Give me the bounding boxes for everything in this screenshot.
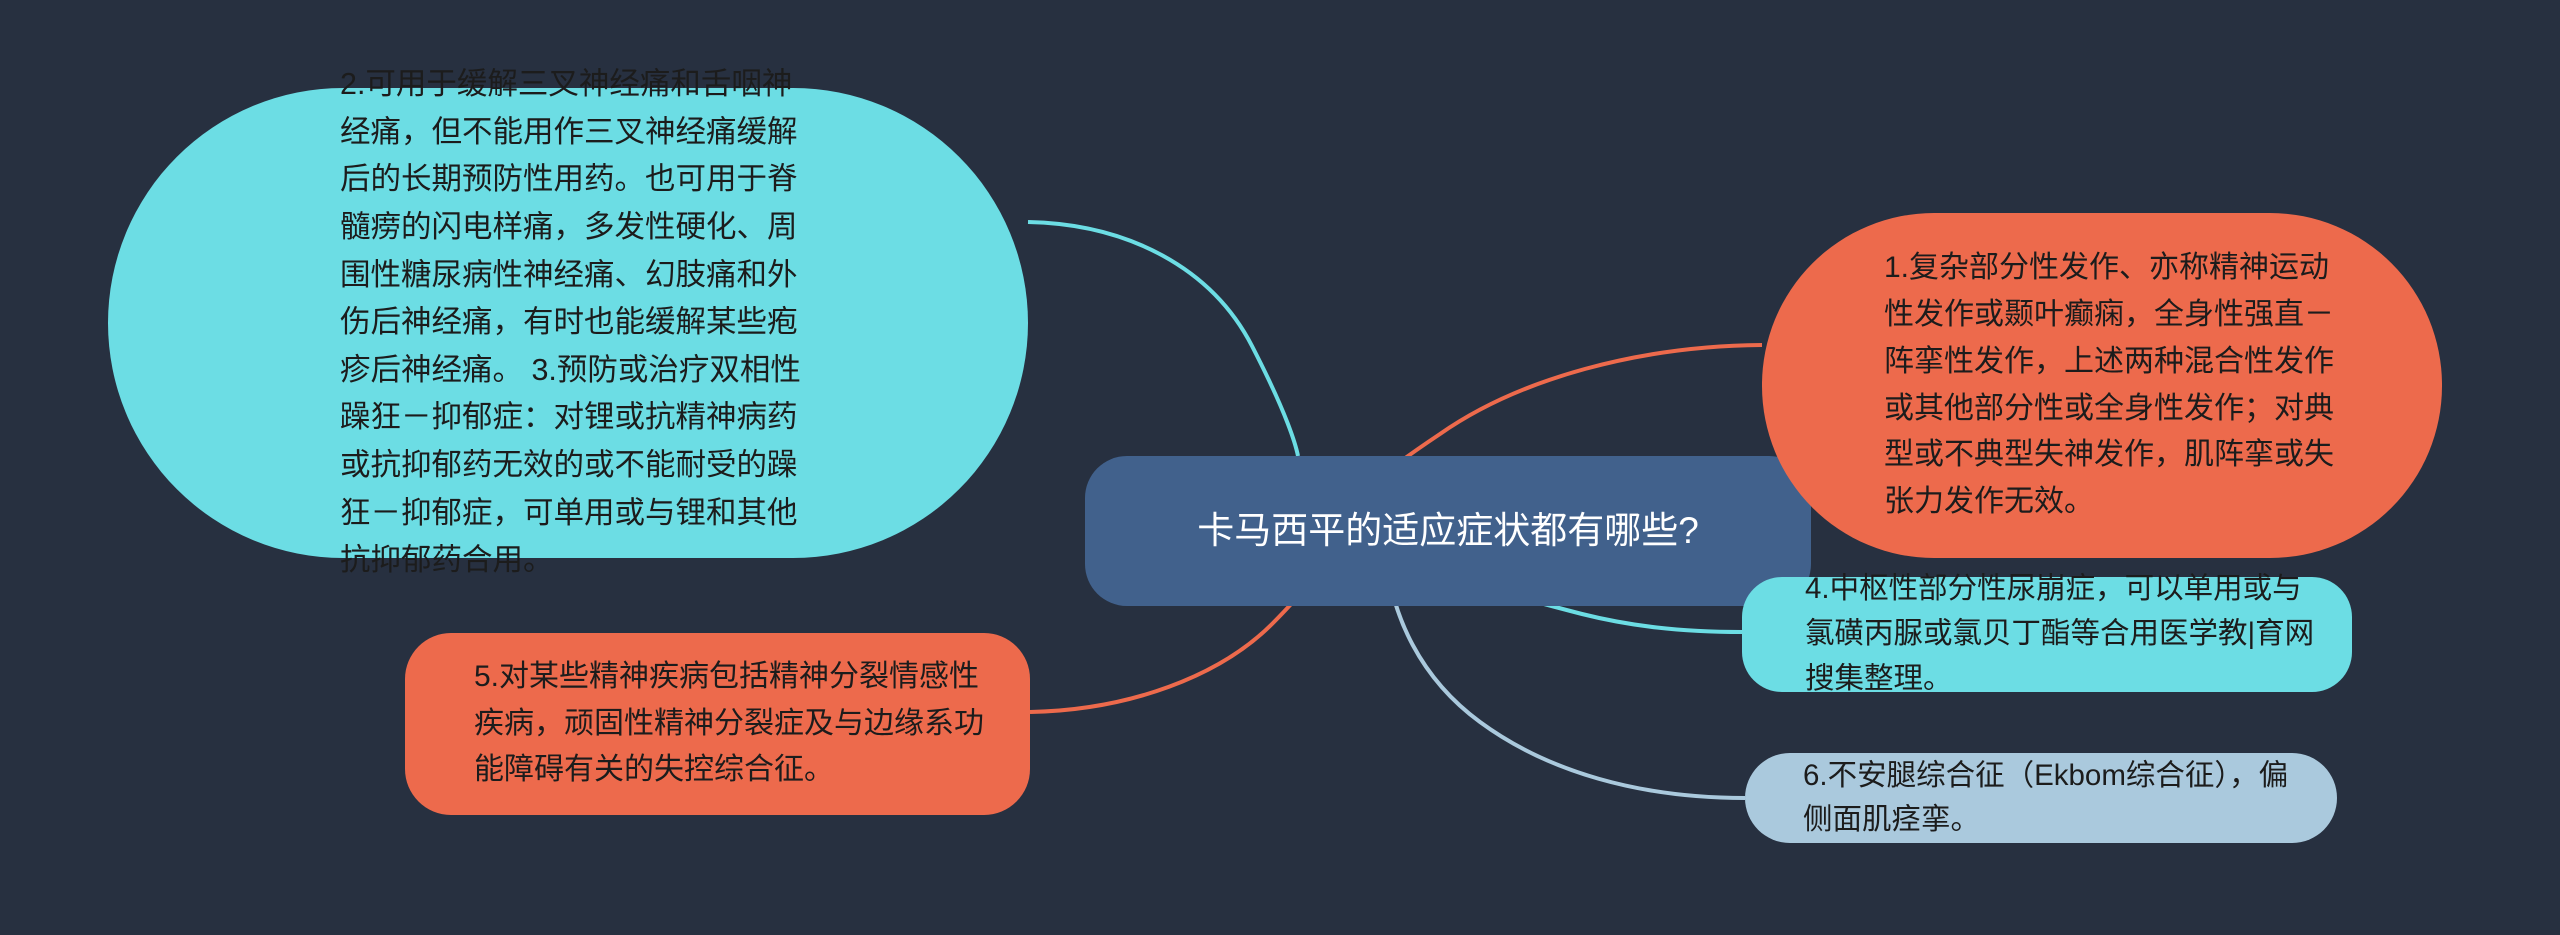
branch-node-1-label: 1.复杂部分性发作、亦称精神运动性发作或颞叶癫痫，全身性强直－阵挛性发作，上述两…: [1884, 245, 2350, 526]
branch-node-5-label: 5.对某些精神疾病包括精神分裂情感性疾病，顽固性精神分裂症及与边缘系功能障碍有关…: [474, 654, 986, 794]
branch-node-4-label: 4.中枢性部分性尿崩症，可以单用或与氯磺丙脲或氯贝丁酯等合用医学教|育网搜集整理…: [1805, 567, 2316, 701]
root-node[interactable]: 卡马西平的适应症状都有哪些?: [1085, 456, 1811, 606]
branch-node-5[interactable]: 5.对某些精神疾病包括精神分裂情感性疾病，顽固性精神分裂症及与边缘系功能障碍有关…: [405, 633, 1030, 815]
branch-node-6[interactable]: 6.不安腿综合征（Ekbom综合征），偏侧面肌痉挛。: [1745, 753, 2337, 843]
branch-node-2-3[interactable]: 2.可用于缓解三叉神经痛和舌咽神经痛，但不能用作三叉神经痛缓解后的长期预防性用药…: [108, 88, 1028, 558]
branch-node-4[interactable]: 4.中枢性部分性尿崩症，可以单用或与氯磺丙脲或氯贝丁酯等合用医学教|育网搜集整理…: [1742, 577, 2352, 692]
branch-node-2-3-label: 2.可用于缓解三叉神经痛和舌咽神经痛，但不能用作三叉神经痛缓解后的长期预防性用药…: [340, 61, 808, 584]
connector-root-to-branch-2-3: [1028, 222, 1298, 456]
mindmap-canvas: 2.可用于缓解三叉神经痛和舌咽神经痛，但不能用作三叉神经痛缓解后的长期预防性用药…: [0, 0, 2560, 935]
root-node-label: 卡马西平的适应症状都有哪些?: [1155, 505, 1741, 558]
branch-node-1[interactable]: 1.复杂部分性发作、亦称精神运动性发作或颞叶癫痫，全身性强直－阵挛性发作，上述两…: [1762, 213, 2442, 558]
branch-node-6-label: 6.不安腿综合征（Ekbom综合征），偏侧面肌痉挛。: [1803, 754, 2307, 843]
